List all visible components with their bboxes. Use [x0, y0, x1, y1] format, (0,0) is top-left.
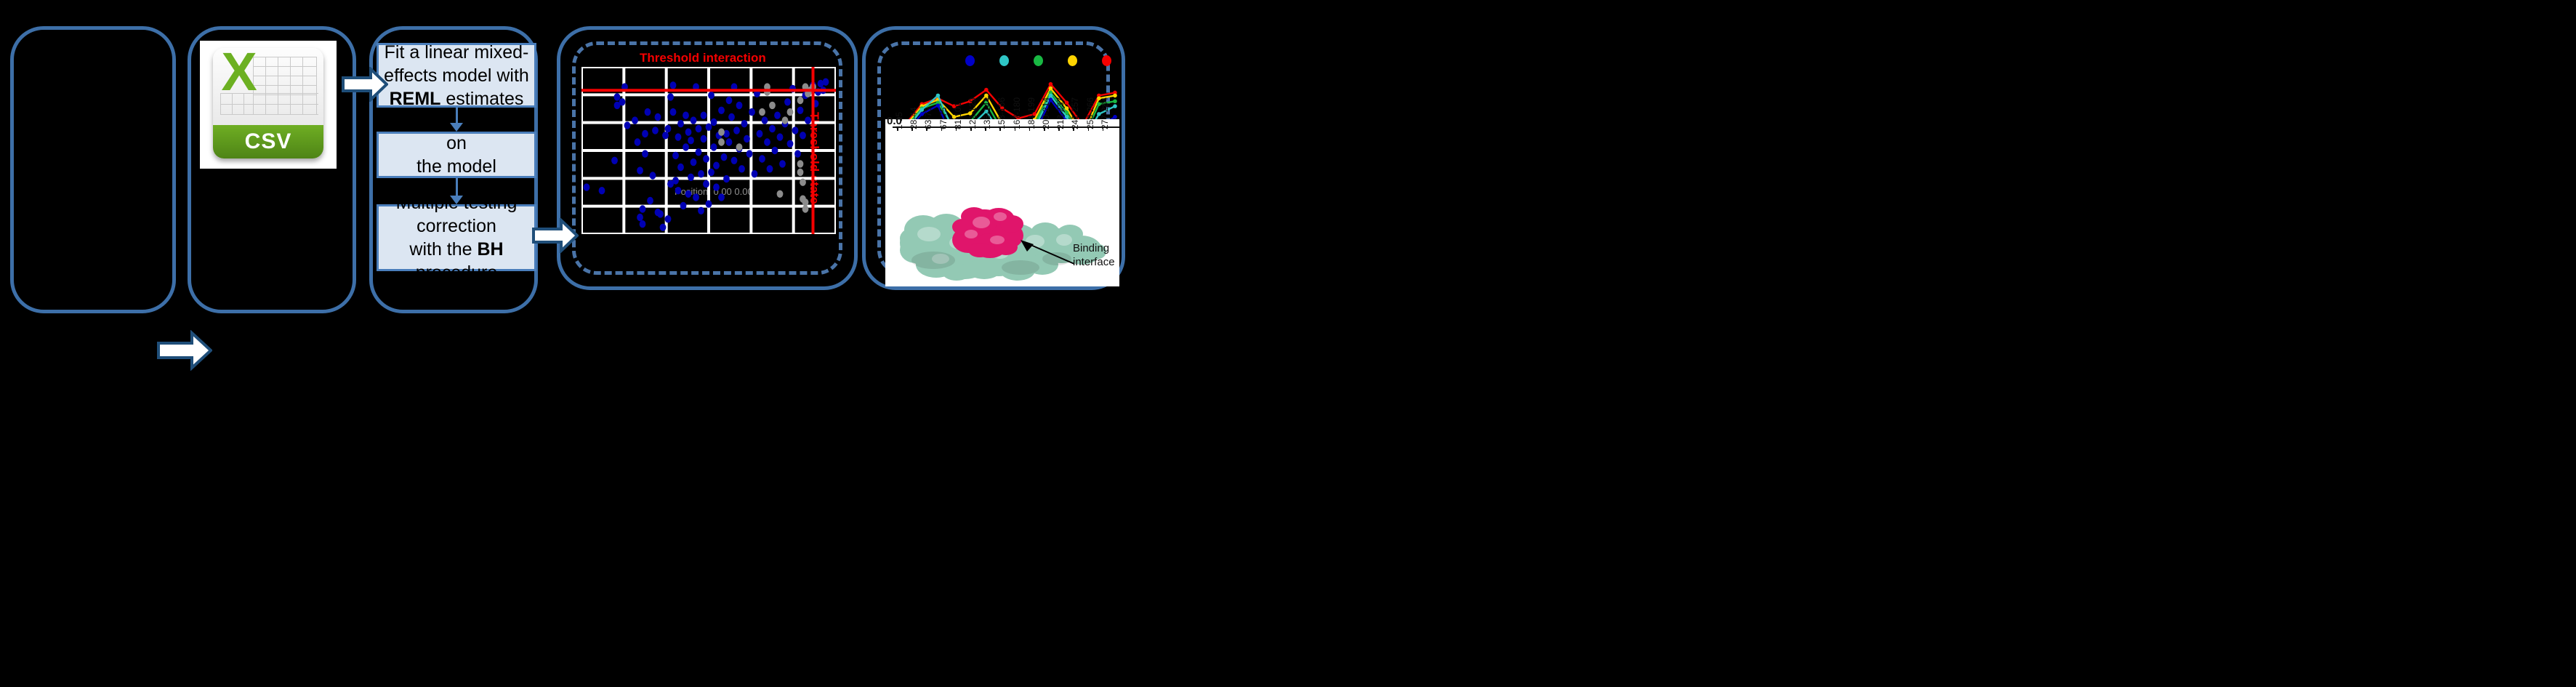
peptide-tick-label: 277-284 — [1100, 97, 1110, 129]
protein-surface-blob — [917, 227, 941, 241]
flow-step-3-line2: correction — [416, 216, 496, 236]
scatter-point — [665, 215, 672, 222]
scatter-point — [767, 165, 773, 172]
scatter-point — [718, 107, 725, 114]
flow-step-1-text: Fit a linear mixed- effects model with R… — [384, 41, 529, 111]
scatter-point — [703, 180, 709, 188]
scatter-point — [701, 112, 707, 119]
peptide-axis-tick — [985, 126, 986, 131]
peptide-axis-tick — [941, 126, 943, 131]
scatter-point — [642, 150, 648, 157]
scatter-point — [677, 120, 684, 127]
scatter-threshold-interaction-label: Threshold interaction — [640, 51, 766, 65]
protein-surface-blob — [911, 252, 955, 269]
scatter-point — [759, 155, 765, 162]
scatter-point — [713, 183, 720, 190]
scatter-point — [637, 166, 643, 174]
scatter-figure: Threshold interaction Threshold state Po… — [581, 67, 836, 249]
scatter-point — [611, 157, 618, 164]
peptide-series-marker — [1113, 104, 1117, 108]
scatter-point — [672, 177, 679, 184]
scatter-point — [764, 138, 770, 145]
legend-dot-blue — [965, 55, 975, 66]
connector-2 — [456, 178, 458, 196]
scatter-point — [675, 133, 682, 140]
connector-1-arrowhead — [450, 123, 463, 132]
scatter-point — [802, 205, 809, 212]
scatter-point — [652, 126, 659, 134]
peptide-series-marker — [984, 88, 989, 92]
scatter-point — [787, 140, 794, 148]
scatter-point — [726, 138, 733, 145]
scatter-point — [708, 92, 715, 99]
scatter-point — [787, 108, 794, 116]
legend-dot-cyan — [999, 55, 1009, 66]
scatter-point — [640, 220, 646, 228]
diagram-canvas: X CSV Fit a linear mixed- effects model … — [0, 0, 2576, 687]
scatter-point — [696, 125, 702, 132]
scatter-point — [660, 224, 667, 231]
scatter-point — [774, 112, 781, 119]
scatter-point — [599, 187, 605, 194]
scatter-point — [708, 169, 715, 176]
peptide-series-marker — [1049, 82, 1053, 87]
scatter-point — [800, 132, 806, 139]
scatter-point — [688, 174, 694, 181]
flow-step-2-tail: on — [446, 133, 467, 153]
scatter-point — [640, 205, 646, 212]
binding-label-line1: Binding — [1073, 242, 1109, 254]
scatter-point — [772, 147, 778, 154]
connector-1 — [456, 108, 458, 123]
peptide-axis-tick — [1044, 126, 1045, 131]
scatter-point — [693, 193, 699, 201]
scatter-point — [802, 198, 809, 206]
scatter-point — [723, 175, 730, 182]
peptide-axis-tick — [1029, 126, 1031, 131]
peptide-tick-label: 167-180 — [1012, 97, 1022, 129]
peptide-axis-tick — [1088, 126, 1090, 131]
arrow-source-to-csv — [157, 330, 212, 371]
scatter-point — [680, 202, 687, 209]
scatter-point — [744, 135, 750, 142]
protein-surface-blob — [967, 259, 1002, 279]
scatter-point — [670, 108, 677, 116]
peptide-figure: 1-1528-4463-7367-7581-101122-129135-1441… — [872, 32, 1119, 286]
panel-data-source[interactable] — [10, 26, 176, 313]
scatter-point — [759, 108, 765, 116]
scatter-point — [777, 133, 784, 140]
scatter-point — [696, 148, 702, 156]
peptide-axis-tick — [1103, 126, 1104, 131]
scatter-point — [797, 160, 804, 167]
scatter-point — [662, 132, 669, 139]
scatter-point — [733, 126, 740, 134]
scatter-point — [805, 116, 811, 124]
scatter-point — [703, 155, 709, 162]
scatter-point — [655, 113, 661, 121]
scatter-point — [647, 197, 653, 204]
scatter-point — [670, 81, 677, 89]
scatter-point — [736, 102, 743, 109]
protein-surface-blob — [994, 212, 1007, 221]
flow-step-1-tail: estimates — [440, 89, 523, 109]
protein-surface-blob — [968, 243, 991, 257]
peptide-axis-tick — [1073, 126, 1074, 131]
scatter-point — [683, 143, 689, 150]
scatter-point — [683, 112, 689, 119]
connector-2-arrowhead — [450, 196, 463, 204]
peptide-axis-tick — [911, 126, 913, 131]
excel-x-letter: X — [217, 49, 261, 95]
protein-surface-blob — [973, 217, 990, 228]
flow-step-2-lead: Apply — [386, 110, 436, 130]
scatter-point — [757, 130, 763, 137]
scatter-point — [718, 138, 725, 145]
scatter-point — [688, 137, 694, 144]
csv-card: X CSV — [200, 41, 337, 169]
flow-step-1-line2: effects model with — [384, 65, 529, 86]
flow-step-3-lead: with the — [409, 239, 477, 260]
scatter-point — [800, 179, 806, 186]
peptide-y-zero-tick: 0.0 — [887, 115, 902, 127]
scatter-point — [746, 150, 753, 157]
scatter-point — [738, 165, 745, 172]
scatter-point — [784, 98, 791, 105]
flow-step-fit-model[interactable]: Fit a linear mixed- effects model with R… — [377, 43, 536, 108]
binding-interface-label: Binding interface — [1073, 241, 1115, 269]
scatter-point — [691, 158, 697, 166]
scatter-point — [701, 135, 707, 142]
scatter-point — [741, 120, 748, 127]
scatter-point — [677, 164, 684, 171]
legend-dot-yellow — [1068, 55, 1077, 66]
peptide-axis-tick — [999, 126, 1001, 131]
peptide-tick-label: 258-266 — [1085, 97, 1095, 129]
scatter-point — [762, 116, 768, 124]
scatter-point — [706, 200, 712, 207]
scatter-plot-canvas: Position: 0.00 0.00 — [581, 67, 836, 234]
peptide-series-marker — [1113, 99, 1117, 103]
flow-step-3-tail: procedure — [416, 262, 498, 283]
scatter-point — [698, 207, 704, 214]
scatter-point — [685, 190, 692, 198]
scatter-point — [711, 143, 717, 150]
peptide-tick-label: 81-101 — [953, 103, 963, 129]
protein-surface-blob — [990, 236, 1005, 244]
flow-step-1-line1: Fit a linear mixed- — [385, 42, 529, 63]
scatter-point — [794, 150, 801, 157]
flow-step-multiple-testing[interactable]: Multiple testing correction with the BH … — [377, 204, 536, 271]
peptide-series-marker — [936, 94, 941, 98]
scatter-point — [779, 160, 786, 167]
peptide-tick-label: 135-144 — [982, 97, 992, 129]
scatter-point — [665, 125, 672, 132]
scatter-point — [614, 93, 621, 100]
peptide-axis-tick — [1015, 126, 1016, 131]
scatter-point — [728, 113, 735, 121]
peptide-series-marker — [1049, 87, 1053, 91]
flow-step-1-bold: REML — [390, 89, 441, 109]
scatter-point — [797, 97, 804, 104]
scatter-point — [749, 108, 755, 116]
protein-surface-blob — [965, 230, 978, 238]
peptide-tick-label: 200-214 — [1041, 97, 1051, 129]
scatter-point — [637, 214, 643, 221]
peptide-axis-and-structure-card: 1-1528-4463-7367-7581-101122-129135-1441… — [885, 119, 1119, 286]
arrow-csv-to-model — [342, 67, 388, 102]
peptide-series-marker — [1113, 115, 1117, 119]
scatter-point — [632, 116, 638, 124]
scatter-point — [650, 172, 656, 179]
csv-extension-label: CSV — [213, 125, 323, 158]
peptide-axis-tick — [926, 126, 927, 131]
scatter-point — [619, 98, 626, 105]
legend-dot-red — [1102, 55, 1111, 66]
scatter-point — [584, 183, 590, 190]
scatter-point — [797, 169, 804, 176]
scatter-point — [726, 97, 733, 104]
scatter-point — [731, 157, 738, 164]
scatter-point — [797, 107, 804, 114]
peptide-tick-label: 122-129 — [967, 97, 978, 129]
flow-step-3-bold: BH — [478, 239, 504, 260]
scatter-point — [685, 129, 692, 136]
peptide-tick-label: 218-237 — [1055, 97, 1066, 129]
scatter-point — [691, 116, 697, 124]
scatter-point — [713, 162, 720, 169]
csv-sheet-face: X — [213, 48, 323, 126]
scatter-point — [675, 187, 682, 194]
scatter-point — [635, 138, 641, 145]
scatter-point — [769, 102, 776, 109]
scatter-point — [711, 118, 717, 126]
scatter-point — [672, 152, 679, 159]
scatter-point — [718, 129, 725, 136]
peptide-tick-label: 184-199 — [1026, 97, 1037, 129]
arrow-model-to-results — [532, 218, 579, 253]
scatter-point — [706, 124, 712, 131]
scatter-point — [752, 170, 758, 177]
scatter-point — [792, 126, 799, 134]
peptide-tick-label: 158-166 — [997, 97, 1007, 129]
scatter-point — [642, 130, 648, 137]
scatter-point — [667, 93, 674, 100]
scatter-point — [657, 210, 664, 217]
peptide-series-marker — [1113, 94, 1117, 98]
scatter-point — [823, 79, 829, 86]
peptide-axis-tick — [970, 126, 972, 131]
scatter-point — [777, 190, 784, 198]
peptide-axis-tick — [956, 126, 957, 131]
binding-label-line2: interface — [1073, 256, 1115, 268]
scatter-point — [718, 193, 725, 201]
flow-step-wald-tests[interactable]: Apply Wald tests on the model parameters — [377, 132, 536, 178]
scatter-point — [645, 108, 651, 116]
scatter-point — [782, 116, 789, 124]
scatter-point — [624, 121, 631, 129]
peptide-tick-label: 241-257 — [1070, 97, 1080, 129]
peptide-axis-tick — [1058, 126, 1060, 131]
binding-interface-pointer-icon — [1019, 240, 1077, 269]
flow-step-3-text: Multiple testing correction with the BH … — [383, 191, 530, 284]
scatter-point — [698, 170, 704, 177]
scatter-point — [736, 143, 743, 150]
scatter-point — [769, 125, 776, 132]
legend-dot-green — [1034, 55, 1043, 66]
scatter-point — [721, 153, 728, 161]
csv-file-icon: X CSV — [213, 48, 323, 158]
